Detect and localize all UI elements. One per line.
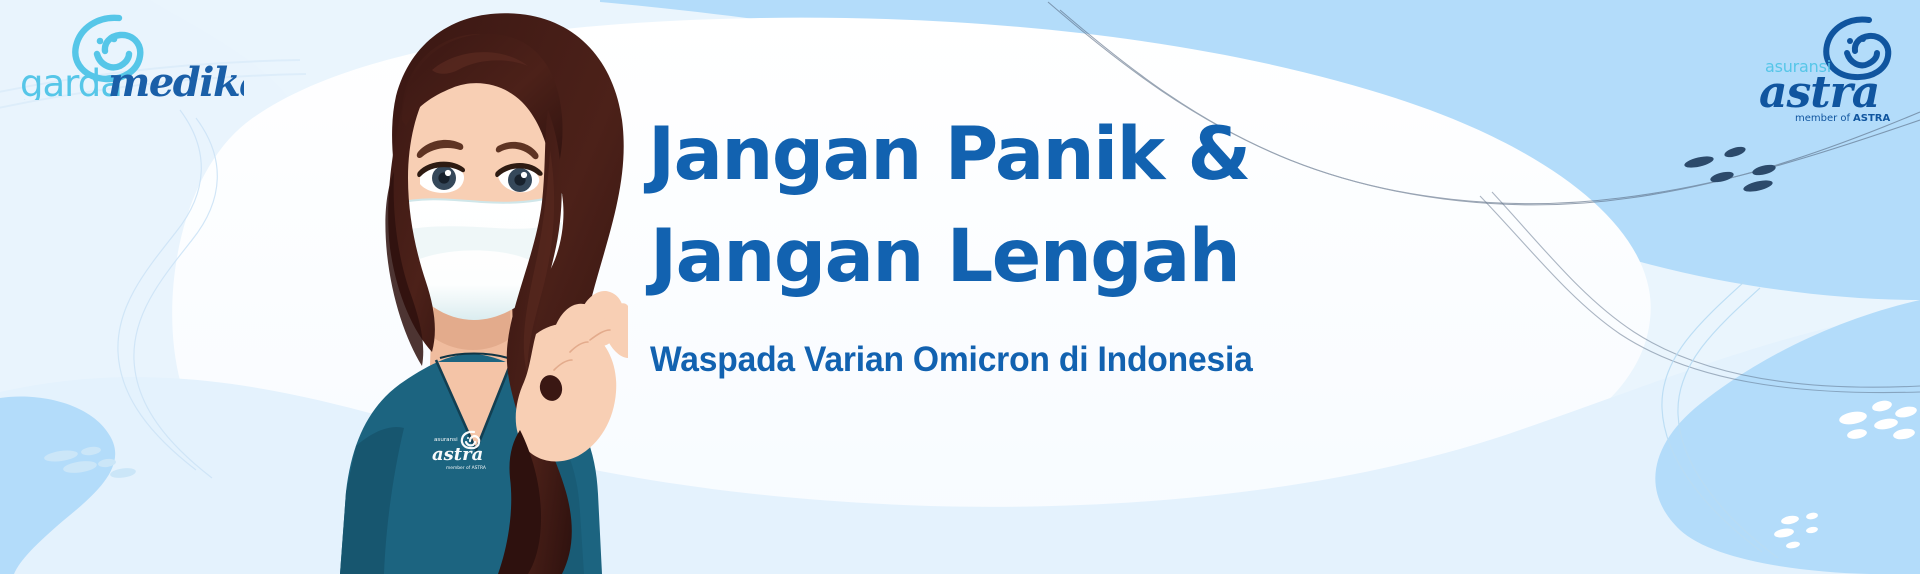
headline-line-two: Jangan Lengah — [650, 206, 1268, 308]
headline-line-one: Jangan Panik & — [648, 104, 1268, 206]
astra-parent-brand: ASTRA — [1853, 113, 1890, 124]
masked-nurse-illustration: asuransi astra member of ASTRA — [236, 0, 628, 574]
badge-astra: astra — [432, 444, 483, 465]
garda-medika-logo[interactable]: garda medika — [14, 8, 244, 100]
member-of-astra-line: member of ASTRA — [1795, 113, 1890, 124]
message-block: Jangan Panik & Jangan Lengah Waspada Var… — [648, 104, 1268, 382]
member-of-prefix: member of — [1795, 113, 1851, 124]
promo-banner: garda medika asuransi astra member of AS… — [0, 0, 1920, 574]
asuransi-astra-logo[interactable]: asuransi astra member of ASTRA — [1737, 12, 1907, 124]
astra-wordmark: astra — [1759, 67, 1879, 118]
subtitle-text: Waspada Varian Omicron di Indonesia — [650, 338, 1243, 382]
garda-wordmark: garda — [20, 62, 122, 100]
medika-wordmark: medika — [108, 59, 244, 100]
badge-asuransi: asuransi — [434, 437, 458, 443]
badge-member-of-astra: member of ASTRA — [446, 465, 486, 471]
